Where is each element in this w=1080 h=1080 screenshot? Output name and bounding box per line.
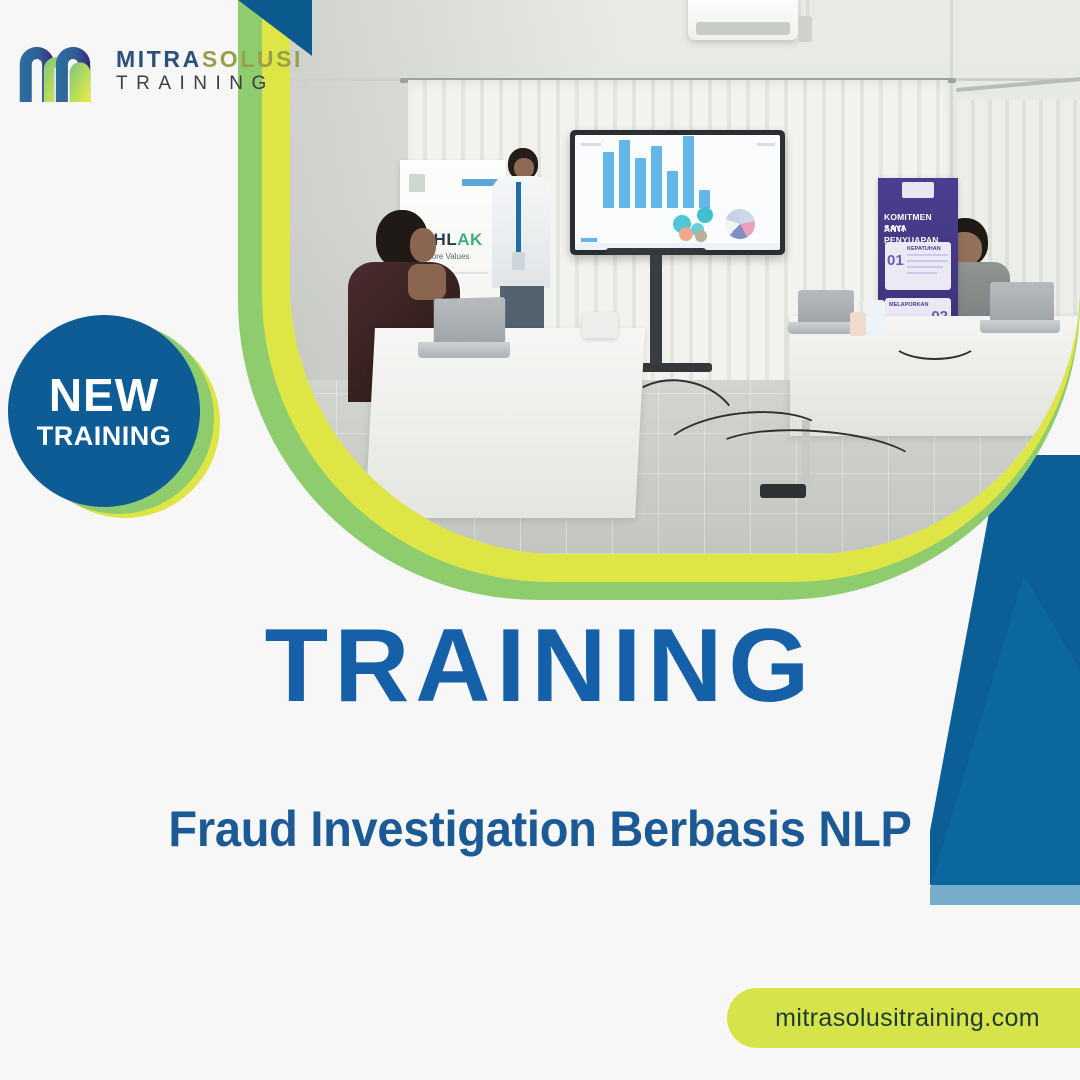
cable-loop xyxy=(890,320,980,360)
dashboard-bubble xyxy=(695,230,707,242)
laptop-left xyxy=(418,298,510,360)
desk-device xyxy=(582,312,618,338)
laptop-r2-screen xyxy=(990,282,1054,322)
training-photo: AKHLAK Core Values Amanah xyxy=(290,0,1080,554)
dashboard-bar xyxy=(635,158,646,208)
card-line xyxy=(907,254,948,256)
dashboard-legend xyxy=(581,238,597,242)
presenter-shirt xyxy=(492,176,550,288)
new-training-badge[interactable]: NEW TRAINING xyxy=(8,310,223,540)
dashboard-bar xyxy=(699,190,710,208)
anti-bribery-item-1: KEPATUHAN xyxy=(907,246,941,252)
website-url: mitrasolusitraining.com xyxy=(775,1004,1040,1033)
laptop-r2-keyboard xyxy=(980,320,1060,333)
dashboard-bar xyxy=(603,152,614,208)
card-line xyxy=(907,266,943,268)
anti-bribery-item-2: MELAPORKAN xyxy=(889,302,928,308)
dashboard-bar xyxy=(667,171,678,208)
presentation-display xyxy=(570,130,785,255)
dashboard-bar xyxy=(619,140,630,208)
laptop-r1-keyboard xyxy=(788,322,858,334)
table-right-leg-2 xyxy=(1060,420,1068,480)
power-strip xyxy=(760,484,806,498)
dashboard-label xyxy=(581,143,601,146)
ac-wall-box xyxy=(798,16,812,42)
dashboard-pie-chart xyxy=(725,209,755,239)
logo-line-2: TRAINING xyxy=(116,73,303,95)
badge-blue-circle: NEW TRAINING xyxy=(8,315,200,507)
badge-label-training: TRAINING xyxy=(37,421,172,451)
card-line xyxy=(907,260,948,262)
tissue-box xyxy=(863,300,885,336)
presenter-badge-card xyxy=(512,252,525,270)
laptop-left-screen xyxy=(434,297,505,345)
banner-header-logo xyxy=(902,182,934,198)
dashboard-bar xyxy=(683,136,694,208)
air-conditioner-icon xyxy=(688,0,798,40)
website-pill[interactable]: mitrasolusitraining.com xyxy=(727,988,1080,1048)
anti-bribery-card-1: KEPATUHAN 01 xyxy=(885,242,951,290)
anti-bribery-number-1: 01 xyxy=(887,252,904,269)
participant-left-hands xyxy=(408,264,446,300)
laptop-right-1 xyxy=(788,290,858,338)
display-stand-pole xyxy=(650,255,662,365)
logo-wordmark: MITRASOLUSI TRAINING xyxy=(116,47,303,95)
brand-logo[interactable]: MITRASOLUSI TRAINING xyxy=(18,38,303,104)
display-stand-arm xyxy=(606,248,706,255)
card-line xyxy=(907,272,937,274)
dashboard-bubble xyxy=(679,227,693,241)
mitra-solusi-m-monogram-icon xyxy=(18,38,104,104)
dashboard-bar xyxy=(651,146,662,208)
presenter-face xyxy=(514,158,534,178)
laptop-right-2 xyxy=(980,282,1060,338)
badge-label-new: NEW xyxy=(49,371,159,419)
logo-line-1: MITRASOLUSI xyxy=(116,47,303,71)
dashboard-screen xyxy=(575,135,780,250)
dashboard-bubble xyxy=(697,207,713,223)
bottle-item xyxy=(850,312,866,336)
presenter-lanyard xyxy=(516,182,521,254)
page-title: TRAINING xyxy=(0,614,1080,718)
poster-canvas: AKHLAK Core Values Amanah xyxy=(0,0,1080,1080)
dashboard-label xyxy=(757,143,775,146)
participant-left-face xyxy=(410,228,436,262)
page-subtitle: Fraud Investigation Berbasis NLP xyxy=(32,800,1047,858)
laptop-left-keyboard xyxy=(418,342,510,358)
laptop-r1-screen xyxy=(798,290,854,324)
banner-logo-icon xyxy=(409,174,425,192)
